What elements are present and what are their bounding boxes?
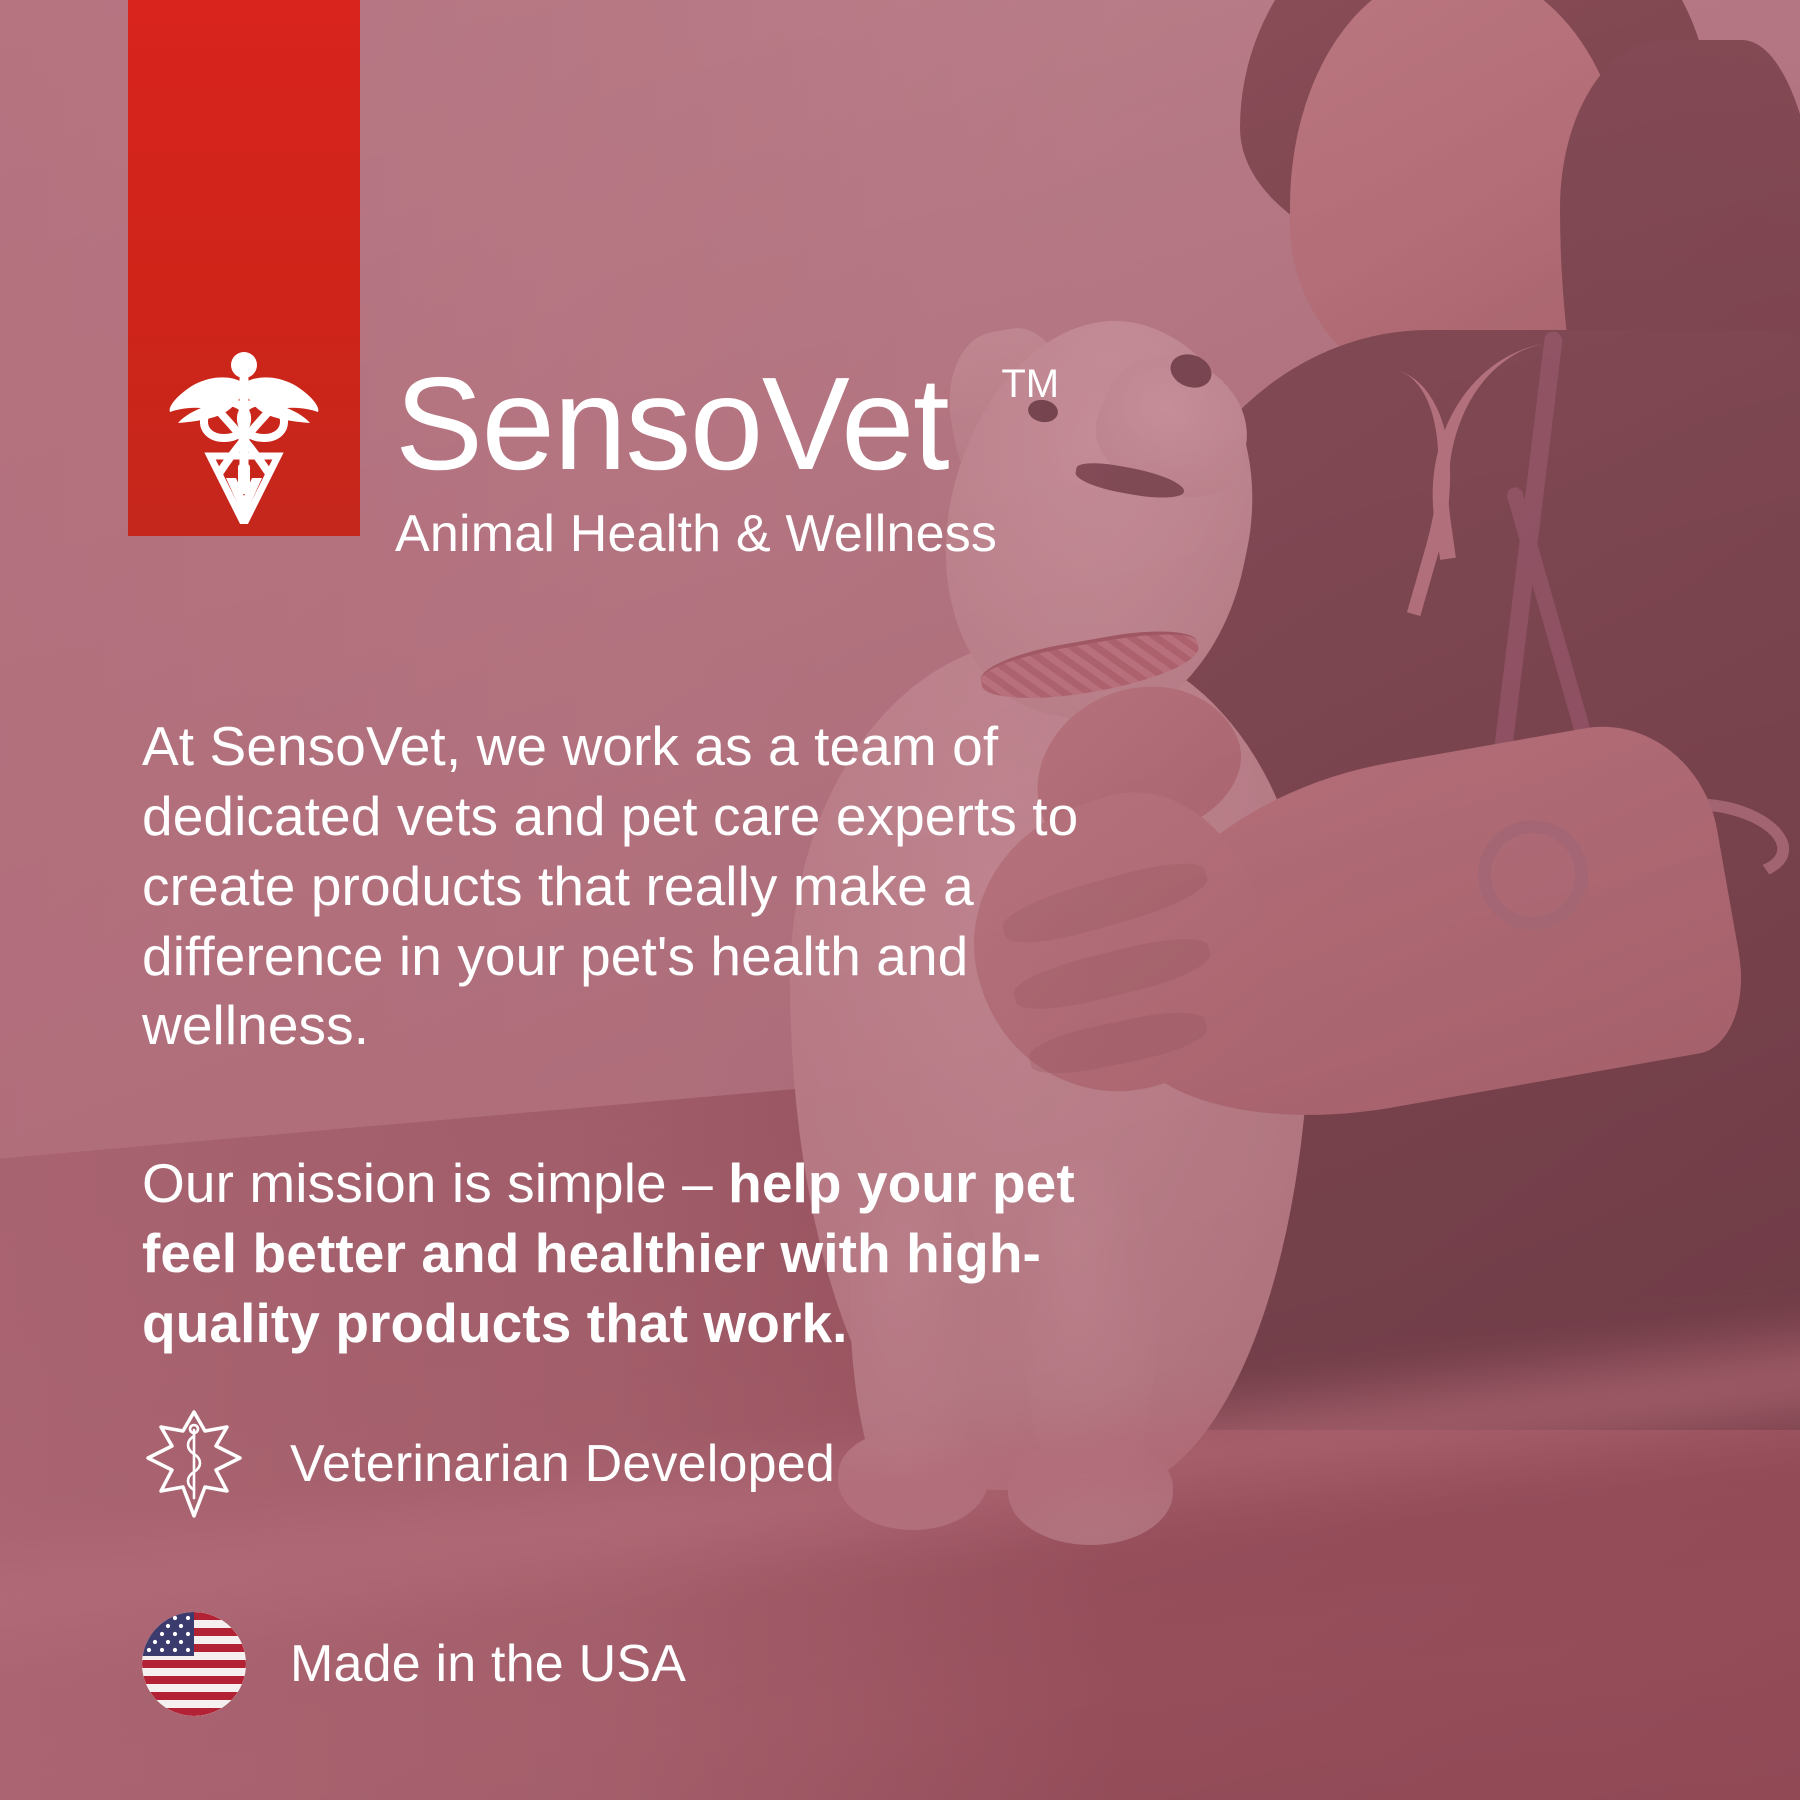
brand-name-text: SensoVet [395,350,948,497]
trademark-symbol: TM [1001,364,1059,404]
badge-label-veterinarian-developed: Veterinarian Developed [290,1434,835,1494]
mission-lead-text: Our mission is simple – [142,1152,728,1214]
intro-paragraph: At SensoVet, we work as a team of dedica… [142,712,1152,1061]
brand-lockup: SensoVet TM Animal Health & Wellness [395,358,997,564]
badge-veterinarian-developed: Veterinarian Developed [140,1400,835,1528]
caduceus-veterinary-icon [168,352,320,524]
content-layer: SensoVet TM Animal Health & Wellness At … [0,0,1800,1800]
badge-list: Veterinarian Developed [140,1400,835,1728]
mission-paragraph: Our mission is simple – help your pet fe… [142,1149,1152,1359]
brand-tagline: Animal Health & Wellness [395,504,997,564]
brand-name: SensoVet TM [395,358,997,490]
badge-made-in-usa: Made in the USA [140,1600,835,1728]
star-of-life-icon [140,1410,248,1518]
body-copy: At SensoVet, we work as a team of dedica… [142,712,1152,1359]
badge-label-made-in-usa: Made in the USA [290,1634,686,1694]
promo-graphic: SensoVet TM Animal Health & Wellness At … [0,0,1800,1800]
usa-flag-circle-icon [140,1610,248,1718]
